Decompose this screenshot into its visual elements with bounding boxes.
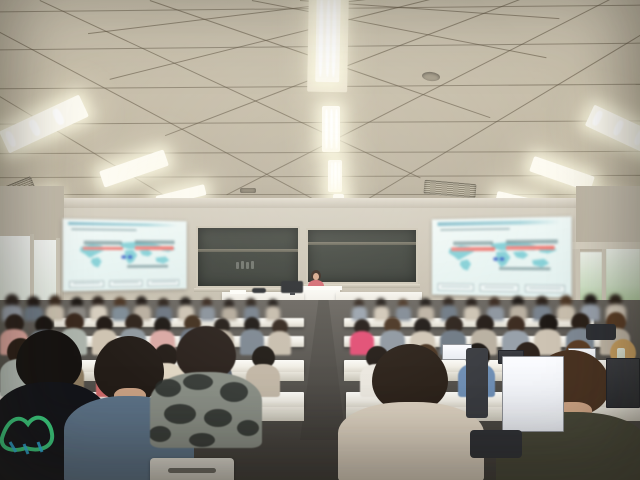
slide-label-right (134, 240, 175, 244)
ceiling-speaker-icon (422, 71, 441, 82)
slide-accent-bar-right (134, 246, 173, 250)
slide-subtitle-bar (71, 228, 137, 231)
presenter-face (313, 273, 319, 280)
window-header-trim (572, 242, 640, 249)
slide-label-left (84, 241, 122, 245)
slide-title-bar (68, 222, 177, 228)
slide-label-right (506, 239, 558, 244)
camo-pattern (150, 372, 262, 448)
backpack (586, 324, 616, 340)
left-slide: ⚭⚭ (63, 219, 187, 292)
slide-accent-bar-left (452, 247, 495, 251)
chair[interactable] (150, 458, 234, 480)
ceiling-air-vent (240, 188, 256, 193)
ceiling-air-vent (423, 180, 476, 198)
ceiling-lamp (99, 149, 169, 187)
lecture-hall-photo: ⚭⚭ (0, 0, 640, 480)
student-torso (338, 402, 484, 480)
student-cream-hoodie (338, 344, 484, 480)
slide-title-bar (437, 220, 559, 226)
tablet-case (470, 430, 522, 458)
tablet-stand (466, 348, 488, 418)
shirt-graphic (0, 408, 60, 456)
left-chalkboard (196, 226, 300, 288)
slide-accent-bar-left (83, 246, 124, 250)
left-projection-screen: ⚭⚭ (63, 219, 187, 292)
slide-label-bottom (127, 265, 168, 268)
ceiling-lamp (315, 0, 341, 82)
ceiling-lamp (328, 160, 342, 192)
tablet[interactable] (496, 356, 570, 436)
slide-accent-bar-right (506, 246, 555, 251)
chain-link-icon: ⚭⚭ (487, 255, 511, 265)
wall-soffit (48, 198, 592, 208)
laptop[interactable] (606, 358, 640, 410)
ceiling-lamp (322, 106, 340, 152)
slide-label-left (453, 241, 494, 246)
student-camo-shirt (150, 326, 262, 446)
chain-link-icon: ⚭⚭ (116, 253, 137, 262)
slide-footnote-box (148, 279, 180, 286)
slide-subtitle-bar (440, 228, 510, 231)
